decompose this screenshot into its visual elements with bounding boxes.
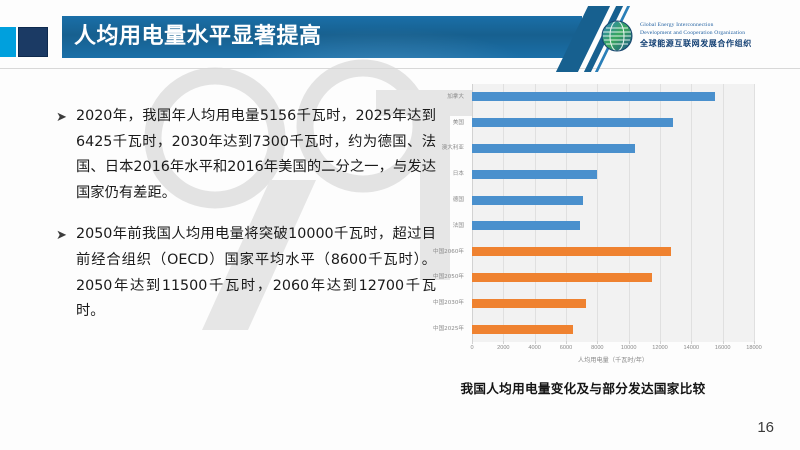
x-tick-label: 12000 — [652, 344, 668, 353]
x-tick-label: 14000 — [684, 344, 700, 353]
bar — [472, 247, 671, 256]
category-label: 法国 — [418, 222, 468, 230]
bar-row: 日本 — [418, 161, 754, 187]
category-label: 美国 — [418, 119, 468, 127]
bar-row: 中国2060年 — [418, 239, 754, 265]
organization-logo: Global Energy Interconnection Developmen… — [600, 14, 796, 58]
x-tick-label: 18000 — [746, 344, 762, 353]
bar — [472, 273, 652, 282]
bar-chart: 加拿大美国澳大利亚日本德国法国中国2060年中国2050年中国2030年中国20… — [418, 82, 788, 372]
x-tick-label: 4000 — [528, 344, 540, 353]
bullet-item: ➤ 2050年前我国人均用电量将突破10000千瓦时，超过目前经合组织（OECD… — [56, 222, 436, 324]
logo-en-line2: Development and Cooperation Organization — [640, 30, 752, 37]
header-divider — [0, 68, 800, 69]
bar — [472, 144, 635, 153]
x-tick-label: 2000 — [497, 344, 509, 353]
bar-row: 中国2025年 — [418, 316, 754, 342]
category-label: 中国2025年 — [418, 325, 468, 333]
logo-cn-name: 全球能源互联网发展合作组织 — [640, 38, 752, 50]
category-label: 中国2060年 — [418, 248, 468, 256]
x-tick-label: 6000 — [560, 344, 572, 353]
category-label: 加拿大 — [418, 93, 468, 101]
x-tick-label: 10000 — [621, 344, 637, 353]
bar-row: 澳大利亚 — [418, 136, 754, 162]
bar-row: 德国 — [418, 187, 754, 213]
bar — [472, 170, 597, 179]
bar — [472, 299, 586, 308]
bar — [472, 92, 715, 101]
body-text-block: ➤ 2020年，我国年人均用电量5156千瓦时，2025年达到6425千瓦时，2… — [56, 104, 436, 341]
gridline — [754, 84, 755, 342]
bar-row: 中国2050年 — [418, 265, 754, 291]
globe-icon — [600, 19, 634, 53]
logo-en-line1: Global Energy Interconnection — [640, 22, 752, 29]
bullet-arrow-icon: ➤ — [56, 222, 76, 248]
bar-row: 法国 — [418, 213, 754, 239]
header-band: 人均用电量水平显著提高 — [0, 0, 800, 75]
logo-text-block: Global Energy Interconnection Developmen… — [640, 22, 752, 50]
category-label: 中国2030年 — [418, 299, 468, 307]
category-label: 中国2050年 — [418, 273, 468, 281]
bar — [472, 196, 583, 205]
chart-caption: 我国人均用电量变化及与部分发达国家比较 — [418, 378, 748, 397]
x-tick-label: 16000 — [715, 344, 731, 353]
bar-rows: 加拿大美国澳大利亚日本德国法国中国2060年中国2050年中国2030年中国20… — [418, 84, 754, 342]
bar-row: 加拿大 — [418, 84, 754, 110]
bar — [472, 118, 673, 127]
bullet-item: ➤ 2020年，我国年人均用电量5156千瓦时，2025年达到6425千瓦时，2… — [56, 104, 436, 206]
decor-square-cyan — [0, 27, 16, 57]
category-label: 日本 — [418, 170, 468, 178]
bar-row: 中国2030年 — [418, 290, 754, 316]
bar — [472, 221, 580, 230]
x-axis-ticks: 0200040006000800010000120001400016000180… — [472, 344, 754, 356]
bullet-text: 2020年，我国年人均用电量5156千瓦时，2025年达到6425千瓦时，203… — [76, 104, 436, 206]
x-tick-label: 8000 — [591, 344, 603, 353]
bullet-text: 2050年前我国人均用电量将突破10000千瓦时，超过目前经合组织（OECD）国… — [76, 222, 436, 324]
bullet-arrow-icon: ➤ — [56, 104, 76, 130]
x-axis-title: 人均用电量（千瓦时/年） — [472, 356, 754, 366]
page-title: 人均用电量水平显著提高 — [74, 19, 322, 55]
bar — [472, 325, 573, 334]
x-tick-label: 0 — [470, 344, 473, 353]
category-label: 德国 — [418, 196, 468, 204]
slide: 人均用电量水平显著提高 — [0, 0, 800, 450]
category-label: 澳大利亚 — [418, 144, 468, 152]
bar-row: 美国 — [418, 110, 754, 136]
decor-square-navy — [18, 27, 48, 57]
page-number: 16 — [757, 419, 774, 436]
